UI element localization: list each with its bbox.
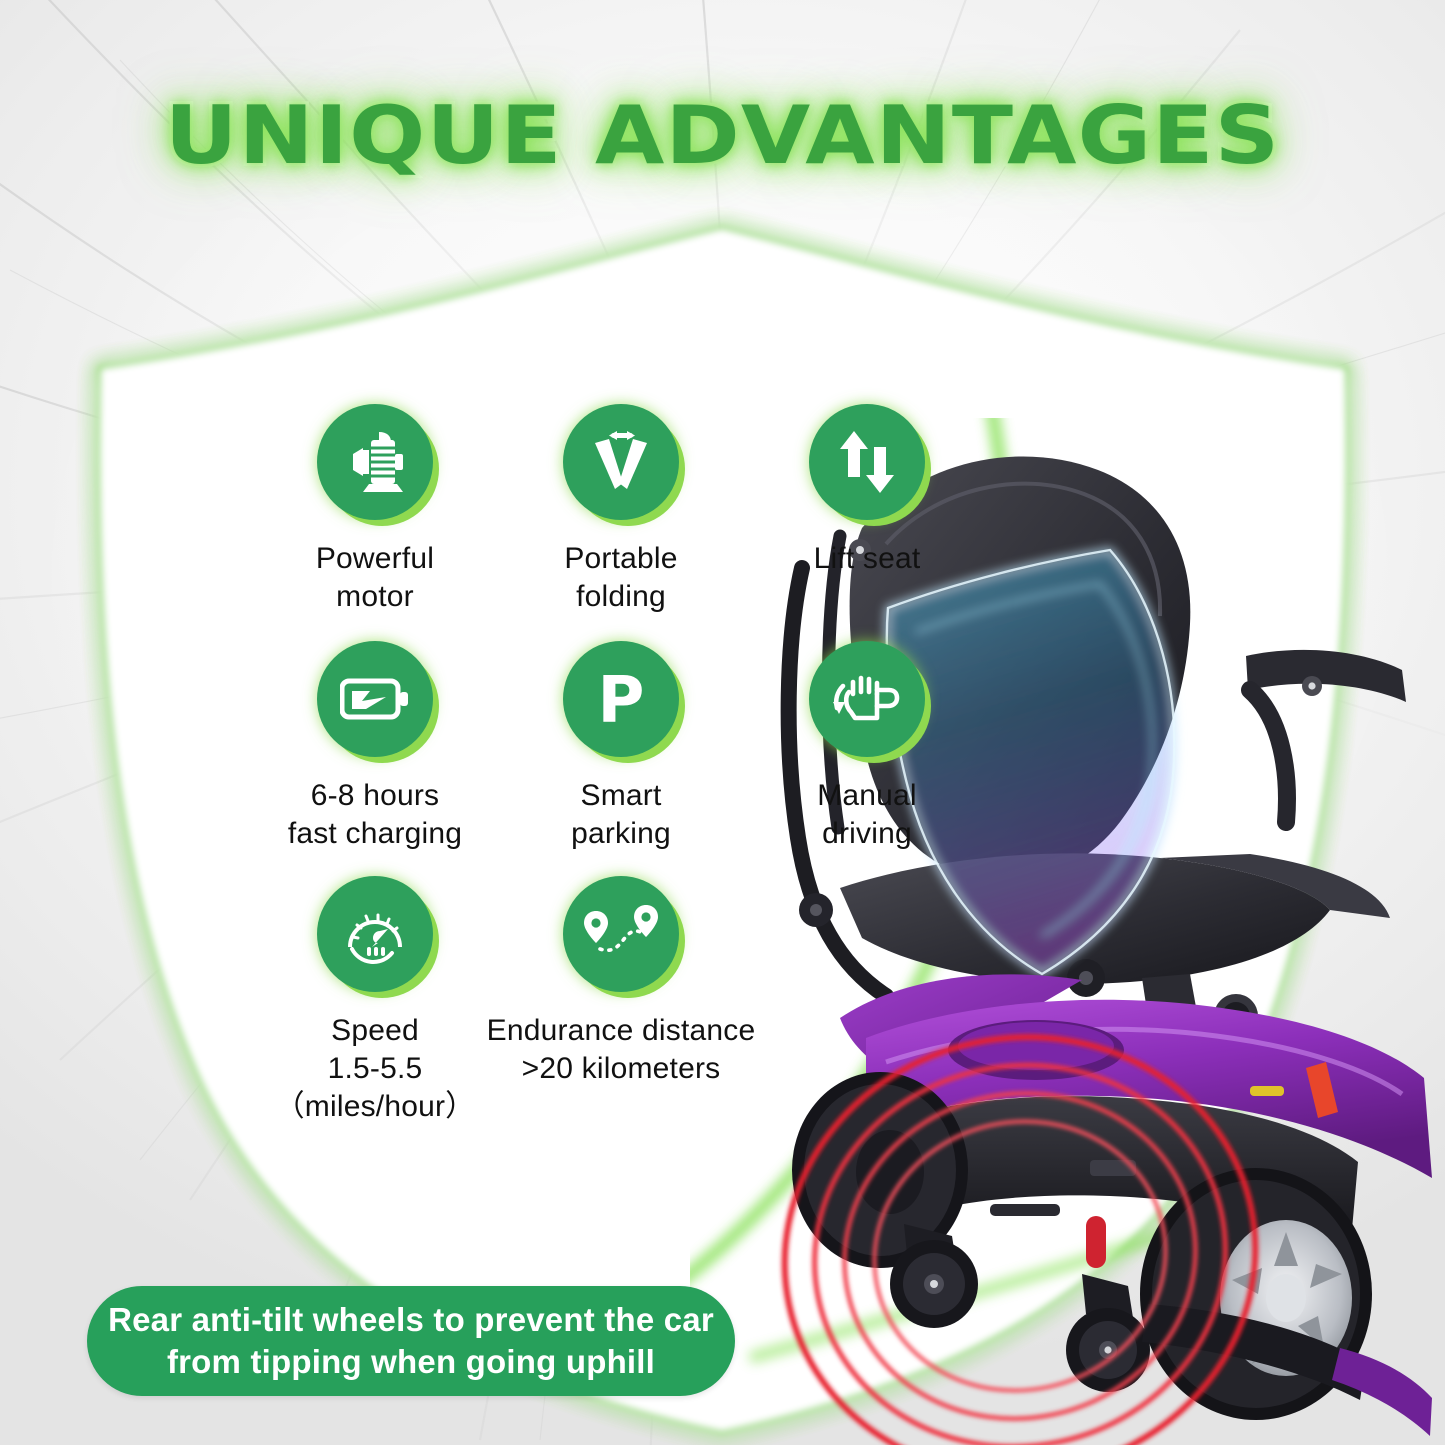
motor-icon-badge	[317, 404, 433, 520]
motor-icon	[343, 432, 407, 492]
up-down-arrows-icon-badge	[809, 404, 925, 520]
feature-speed[interactable]: Speed 1.5-5.5 （miles/hour）	[252, 876, 498, 1127]
features-row-3: Speed 1.5-5.5 （miles/hour） Endurance dis…	[252, 876, 992, 1127]
infographic-canvas: UNIQUE ADVANTAGES	[0, 0, 1445, 1445]
speedometer-icon-badge	[317, 876, 433, 992]
folding-v-icon-badge	[563, 404, 679, 520]
feature-label: Portable folding	[564, 540, 677, 617]
anti-tilt-banner: Rear anti-tilt wheels to prevent the car…	[87, 1286, 735, 1396]
parking-p-icon: P	[595, 665, 647, 733]
feature-empty-slot	[744, 876, 990, 1127]
folding-v-icon	[587, 431, 655, 493]
features-row-2: 6-8 hours fast charging P Smart parking	[252, 641, 992, 854]
page-title: UNIQUE ADVANTAGES	[0, 96, 1445, 176]
feature-powerful-motor[interactable]: Powerful motor	[252, 404, 498, 617]
feature-fast-charging[interactable]: 6-8 hours fast charging	[252, 641, 498, 854]
hand-lever-icon-badge	[809, 641, 925, 757]
features-grid: Powerful motor Portable folding	[252, 404, 992, 1127]
parking-p-icon-badge: P	[563, 641, 679, 757]
feature-label: Manual driving	[817, 777, 917, 854]
speedometer-icon	[342, 901, 408, 967]
feature-smart-parking[interactable]: P Smart parking	[498, 641, 744, 854]
feature-lift-seat[interactable]: Lift seat	[744, 404, 990, 617]
feature-portable-folding[interactable]: Portable folding	[498, 404, 744, 617]
up-down-arrows-icon	[838, 431, 896, 493]
route-pins-icon-badge	[563, 876, 679, 992]
route-pins-icon	[584, 905, 658, 963]
features-row-1: Powerful motor Portable folding	[252, 404, 992, 617]
feature-label: Smart parking	[571, 777, 671, 854]
feature-label: Lift seat	[814, 540, 921, 578]
feature-label: 6-8 hours fast charging	[288, 777, 462, 854]
feature-label: Speed 1.5-5.5 （miles/hour）	[275, 1012, 476, 1127]
anti-tilt-banner-text: Rear anti-tilt wheels to prevent the car…	[108, 1299, 714, 1382]
feature-manual-driving[interactable]: Manual driving	[744, 641, 990, 854]
svg-text:P: P	[598, 665, 645, 733]
feature-endurance-distance[interactable]: Endurance distance >20 kilometers	[498, 876, 744, 1127]
hand-lever-icon	[831, 670, 903, 728]
feature-label: Powerful motor	[316, 540, 434, 617]
feature-label: Endurance distance >20 kilometers	[456, 1012, 786, 1089]
battery-charge-icon-badge	[317, 641, 433, 757]
battery-charge-icon	[340, 677, 410, 721]
